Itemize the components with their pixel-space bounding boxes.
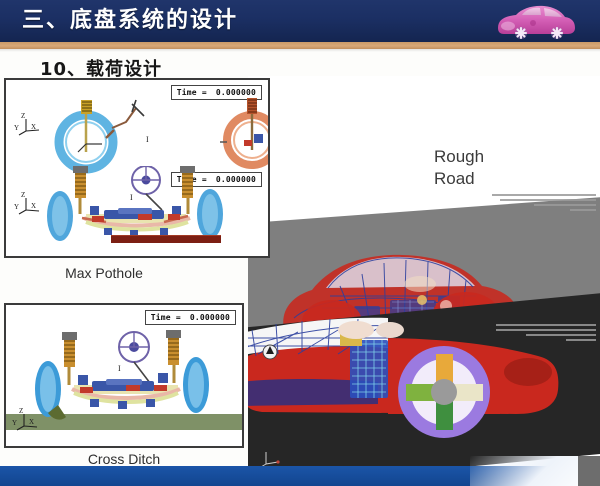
axis-triad-cross-ditch: Z Y X	[15, 409, 41, 435]
caption-max-pothole: Max Pothole	[4, 265, 204, 281]
rough-road-stage: Rough Road	[248, 76, 600, 486]
slide-canvas: 三、底盘系统的设计	[0, 0, 600, 486]
axis-label-z: Z	[21, 112, 25, 120]
rough-road-label: Rough Road	[434, 146, 484, 190]
svg-text:I: I	[118, 364, 121, 373]
sim-panel-max-pothole: Time =0.000000 Time =0.000000 I	[4, 78, 270, 258]
sim-panel-cross-ditch: Time =0.000000	[4, 303, 244, 448]
header-gold-rule	[0, 42, 600, 49]
rough-road-label-line1: Rough	[434, 146, 484, 168]
pink-car-icon	[492, 1, 578, 41]
suspension-axle-assembly-cross-ditch: I	[28, 327, 220, 433]
axis-label-y: Y	[12, 419, 17, 427]
axis-label-x: X	[29, 418, 34, 426]
axis-label-x: X	[31, 202, 36, 210]
suspension-wheel-blue: I	[48, 94, 158, 174]
time-label: Time =	[151, 313, 181, 322]
axis-label-z: Z	[21, 191, 25, 199]
time-value: 0.000000	[190, 313, 230, 322]
svg-text:I: I	[130, 193, 133, 202]
caption-cross-ditch: Cross Ditch	[4, 451, 244, 467]
time-label: Time =	[177, 88, 207, 97]
axis-triad-lower: Z Y X	[17, 193, 43, 219]
slide-bottom-tab	[578, 456, 600, 486]
axis-triad-upper: Z Y X	[17, 114, 43, 140]
rough-road-label-line2: Road	[434, 168, 484, 190]
axis-label-y: Y	[14, 124, 19, 132]
time-readout-3: Time =0.000000	[145, 310, 236, 325]
pothole-road-bar	[111, 235, 221, 243]
svg-text:I: I	[146, 135, 149, 144]
axis-label-z: Z	[19, 407, 23, 415]
road-annotation-text-lower	[488, 324, 596, 344]
header-rule-shadow	[0, 49, 600, 52]
fea-wheel-closeup	[398, 346, 490, 438]
axis-label-y: Y	[14, 203, 19, 211]
page-title: 三、底盘系统的设计	[22, 6, 238, 36]
suspension-wheel-orange	[218, 96, 270, 172]
axis-label-x: X	[31, 123, 36, 131]
road-annotation-text	[488, 194, 596, 214]
